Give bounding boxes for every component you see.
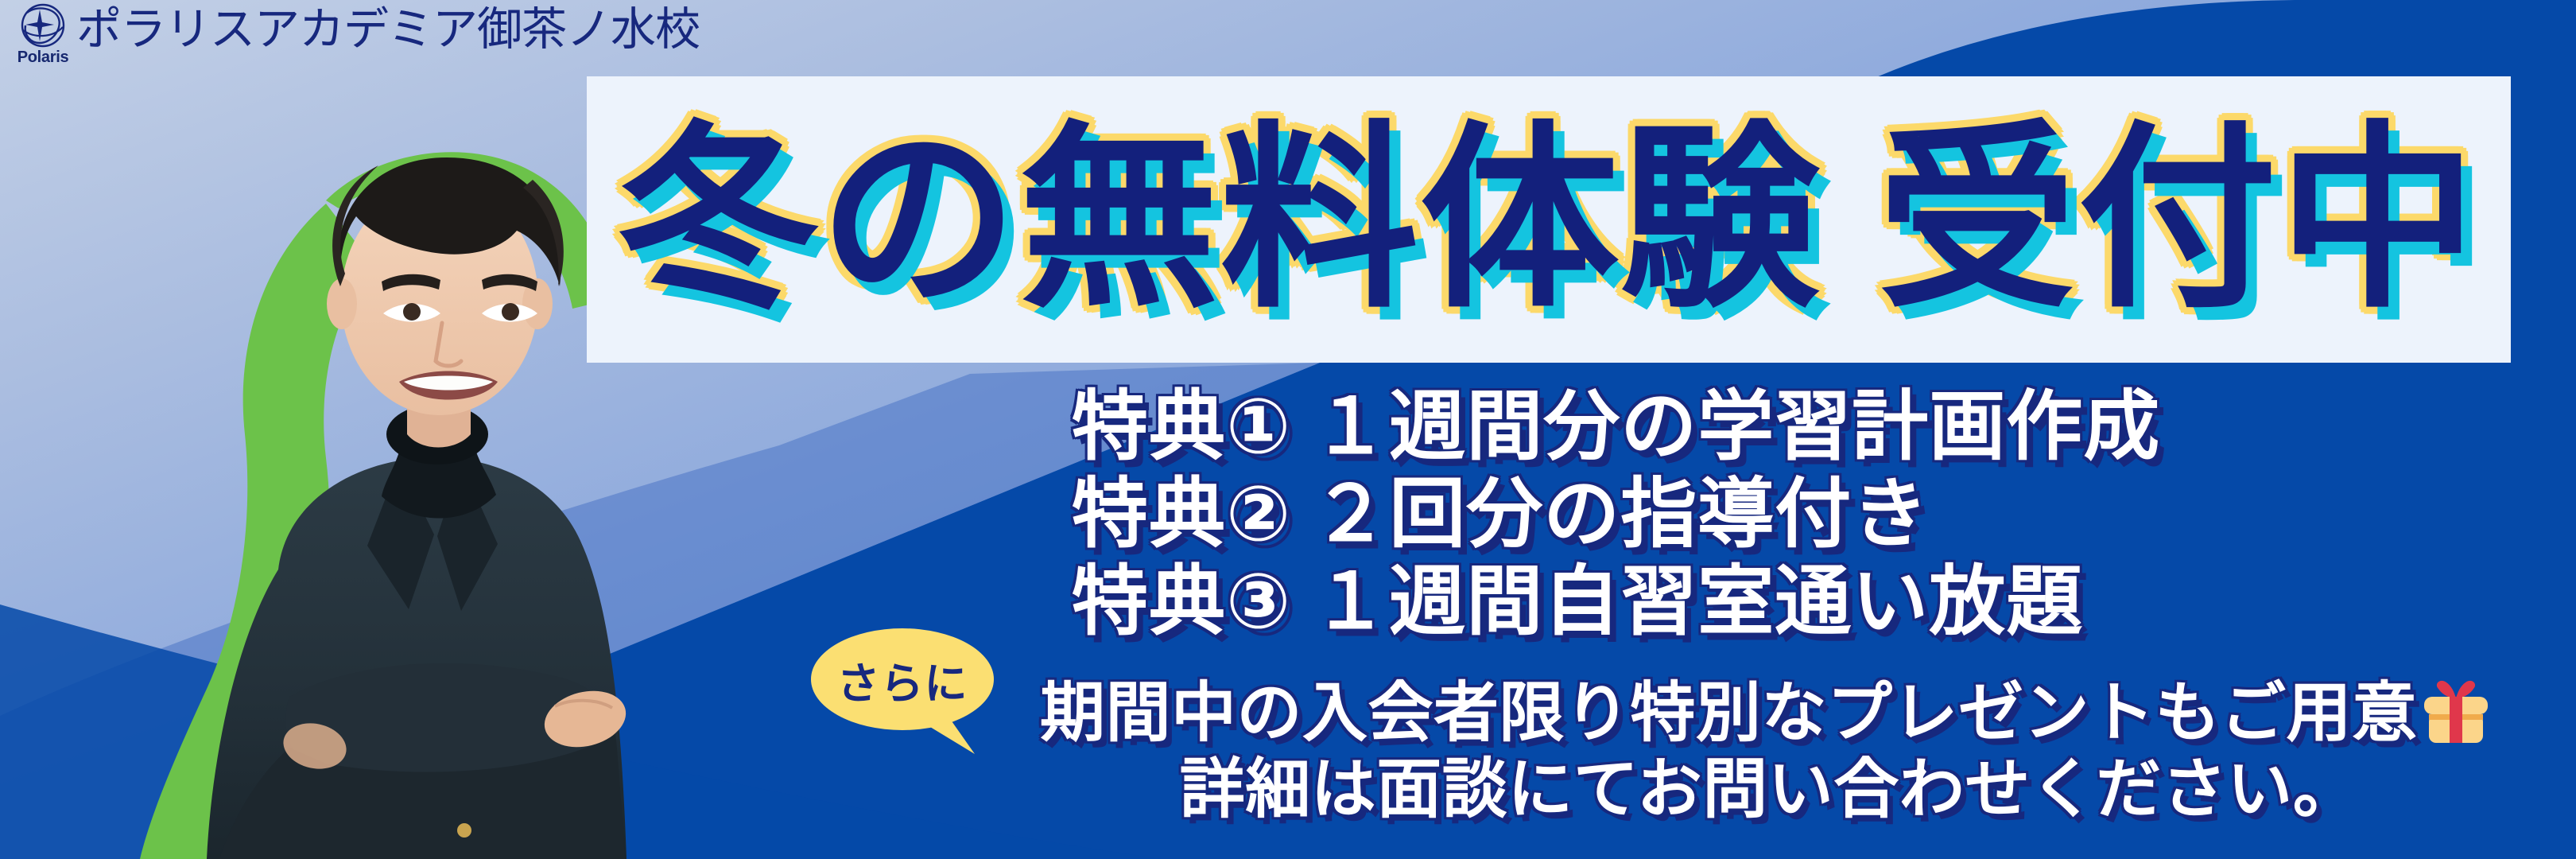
polaris-logo: Polaris bbox=[14, 2, 72, 64]
school-header: Polaris ポラリスアカデミア御茶ノ水校 bbox=[14, 2, 700, 64]
gift-box-icon bbox=[2419, 674, 2493, 748]
benefit-description: １週間分の学習計画作成 bbox=[1312, 384, 2160, 469]
benefit-item: 特典①１週間分の学習計画作成 bbox=[1072, 383, 2160, 471]
benefit-label: 特典① bbox=[1072, 384, 1291, 469]
polaris-wordmark: Polaris bbox=[14, 49, 72, 65]
benefit-label: 特典② bbox=[1072, 472, 1291, 557]
benefit-description: ２回分の指導付き bbox=[1312, 472, 1929, 557]
notice-line-1-text: 期間中の入会者限り特別なプレゼントもご用意 bbox=[1040, 677, 2418, 749]
benefit-label: 特典③ bbox=[1072, 559, 1291, 644]
school-name: ポラリスアカデミア御茶ノ水校 bbox=[76, 0, 700, 59]
benefit-item: 特典②２回分の指導付き bbox=[1072, 471, 2160, 558]
notice-block: 期間中の入会者限り特別なプレゼントもご用意 詳細は面談にてお問い合わせください。 bbox=[1018, 674, 2552, 828]
polaris-sphere-star-icon bbox=[19, 3, 67, 48]
headline-panel: 冬の無料体験 受付中 bbox=[587, 76, 2511, 363]
benefit-description: １週間自習室通い放題 bbox=[1312, 559, 2083, 644]
notice-line-1: 期間中の入会者限り特別なプレゼントもご用意 bbox=[1018, 674, 2552, 752]
promo-banner: Polaris ポラリスアカデミア御茶ノ水校 bbox=[0, 0, 2576, 859]
balloon-label: さらに bbox=[811, 628, 994, 730]
benefit-item: 特典③１週間自習室通い放題 bbox=[1072, 558, 2160, 646]
benefits-list: 特典①１週間分の学習計画作成 特典②２回分の指導付き 特典③１週間自習室通い放題 bbox=[1072, 383, 2160, 646]
headline-text: 冬の無料体験 受付中 bbox=[607, 120, 2489, 319]
sarani-speech-balloon: さらに bbox=[811, 628, 1010, 756]
notice-line-2: 詳細は面談にてお問い合わせください。 bbox=[1018, 752, 2552, 828]
